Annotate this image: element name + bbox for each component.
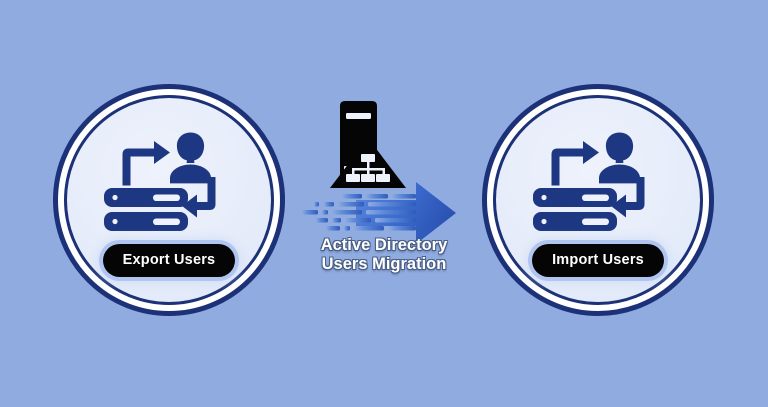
arrow-out-icon bbox=[123, 141, 171, 186]
import-users-button[interactable]: Import Users bbox=[532, 244, 664, 277]
active-directory-graphic bbox=[296, 96, 472, 244]
import-panel-content: Import Users bbox=[482, 84, 714, 316]
export-panel-content: Export Users bbox=[53, 84, 285, 316]
migration-diagram: Export Users bbox=[0, 0, 768, 407]
server-user-migration-icon bbox=[531, 130, 665, 234]
caption-line-2: Users Migration bbox=[296, 255, 472, 274]
export-panel[interactable]: Export Users bbox=[53, 84, 285, 316]
arrow-out-icon bbox=[552, 141, 600, 186]
user-bust-icon bbox=[599, 132, 640, 183]
user-bust-icon bbox=[170, 132, 211, 183]
import-panel[interactable]: Import Users bbox=[482, 84, 714, 316]
export-users-button[interactable]: Export Users bbox=[103, 244, 236, 277]
caption-line-1: Active Directory bbox=[296, 236, 472, 255]
migration-indicator: Active Directory Users Migration bbox=[296, 96, 472, 296]
server-user-migration-icon bbox=[102, 130, 236, 234]
migration-caption: Active Directory Users Migration bbox=[296, 236, 472, 273]
